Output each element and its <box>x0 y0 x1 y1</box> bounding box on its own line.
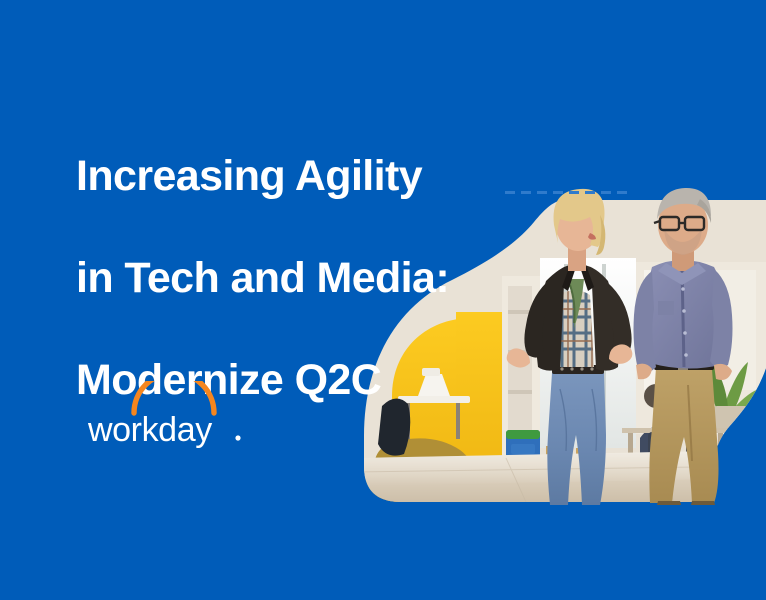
workday-arc-icon <box>134 381 214 413</box>
workday-logo: workday <box>88 381 248 449</box>
slide-canvas: Increasing Agility in Tech and Media: Mo… <box>0 0 766 600</box>
headline-line-2: in Tech and Media: <box>76 253 546 304</box>
workday-wordmark: workday <box>88 411 212 449</box>
headline-line-1: Increasing Agility <box>76 151 546 202</box>
